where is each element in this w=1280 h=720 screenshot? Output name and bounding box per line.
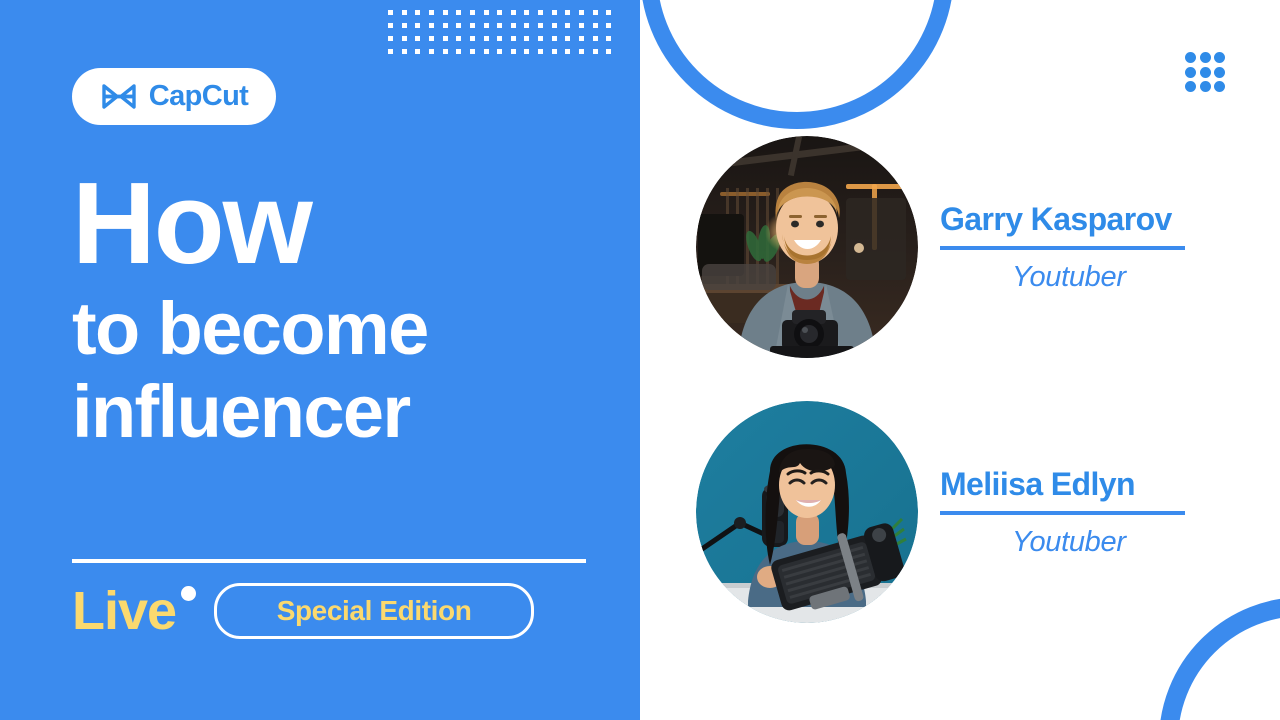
dot [429, 49, 434, 54]
dot [511, 10, 516, 15]
dot [511, 49, 516, 54]
dot [497, 23, 502, 28]
capcut-logo[interactable]: CapCut [72, 68, 276, 125]
dot [1214, 81, 1225, 92]
dot [593, 10, 598, 15]
speaker-name: Garry Kasparov [940, 200, 1185, 238]
speaker-card-2[interactable]: Meliisa Edlyn Youtuber [696, 401, 1185, 623]
dot [565, 10, 570, 15]
speaker-role: Youtuber [1012, 527, 1185, 559]
dot [1214, 52, 1225, 63]
special-edition-pill[interactable]: Special Edition [214, 583, 534, 639]
dot [593, 23, 598, 28]
dot [1214, 67, 1225, 78]
dot [429, 10, 434, 15]
dot [388, 23, 393, 28]
avatar [696, 136, 918, 358]
headline-line-3: influencer [72, 371, 612, 454]
dot [429, 23, 434, 28]
dot [484, 10, 489, 15]
speaker-info: Meliisa Edlyn Youtuber [940, 465, 1185, 558]
dot [606, 49, 611, 54]
dot [524, 49, 529, 54]
dot [470, 49, 475, 54]
dot [415, 23, 420, 28]
live-text: Live [72, 581, 176, 641]
dot [484, 23, 489, 28]
dot [497, 10, 502, 15]
dot [606, 36, 611, 41]
dot [443, 36, 448, 41]
dot [1200, 81, 1211, 92]
dot [443, 10, 448, 15]
dot [565, 49, 570, 54]
dot [456, 23, 461, 28]
dot [429, 36, 434, 41]
speaker-name-rule [940, 246, 1185, 250]
dot [415, 49, 420, 54]
dot [402, 36, 407, 41]
headline-block: How to become influencer [72, 168, 612, 454]
dot [552, 36, 557, 41]
poster-canvas: CapCut How to become influencer Live Spe… [0, 0, 1280, 720]
dot [579, 10, 584, 15]
dot [1185, 81, 1196, 92]
dot [470, 10, 475, 15]
dot [593, 36, 598, 41]
dot [456, 49, 461, 54]
dot [524, 10, 529, 15]
dot [402, 23, 407, 28]
dot-grid-white-icon [388, 10, 620, 62]
dot [524, 23, 529, 28]
dot [552, 49, 557, 54]
dot [402, 10, 407, 15]
dot [511, 23, 516, 28]
live-dot-icon [181, 586, 196, 601]
dot [538, 49, 543, 54]
dot [402, 49, 407, 54]
dot [443, 23, 448, 28]
dot [565, 23, 570, 28]
dot [565, 36, 570, 41]
dot [456, 10, 461, 15]
speaker-name: Meliisa Edlyn [940, 465, 1185, 503]
dot [388, 49, 393, 54]
headline-line-1: How [72, 168, 612, 278]
dot [388, 36, 393, 41]
dot [511, 36, 516, 41]
dot [497, 49, 502, 54]
headline-divider [72, 559, 586, 563]
dot [470, 36, 475, 41]
dot [606, 10, 611, 15]
dot [552, 10, 557, 15]
dot [579, 36, 584, 41]
dot [1200, 52, 1211, 63]
dot [606, 23, 611, 28]
dot [552, 23, 557, 28]
speaker-role: Youtuber [1012, 262, 1185, 294]
dot [1200, 67, 1211, 78]
dot [579, 49, 584, 54]
dot [388, 10, 393, 15]
dot [538, 36, 543, 41]
dot [593, 49, 598, 54]
dot [497, 36, 502, 41]
capcut-logo-text: CapCut [149, 82, 249, 111]
dot [415, 10, 420, 15]
special-edition-label: Special Edition [277, 595, 472, 627]
speaker-name-rule [940, 511, 1185, 515]
live-badge-row: Live Special Edition [72, 583, 534, 639]
arc-top-icon [640, 0, 954, 129]
dot [470, 23, 475, 28]
dot [443, 49, 448, 54]
dot [456, 36, 461, 41]
dot [415, 36, 420, 41]
dot [579, 23, 584, 28]
speaker-card-1[interactable]: Garry Kasparov Youtuber [696, 136, 1185, 358]
dot [1185, 67, 1196, 78]
dot [538, 10, 543, 15]
headline-line-2: to become [72, 288, 612, 371]
dot [484, 49, 489, 54]
dot [1185, 52, 1196, 63]
dot [538, 23, 543, 28]
capcut-mark-icon [100, 82, 138, 112]
live-label: Live [72, 584, 200, 638]
dot [524, 36, 529, 41]
speaker-info: Garry Kasparov Youtuber [940, 200, 1185, 293]
dot-grid-blue-icon [1185, 52, 1229, 96]
dot [484, 36, 489, 41]
avatar [696, 401, 918, 623]
